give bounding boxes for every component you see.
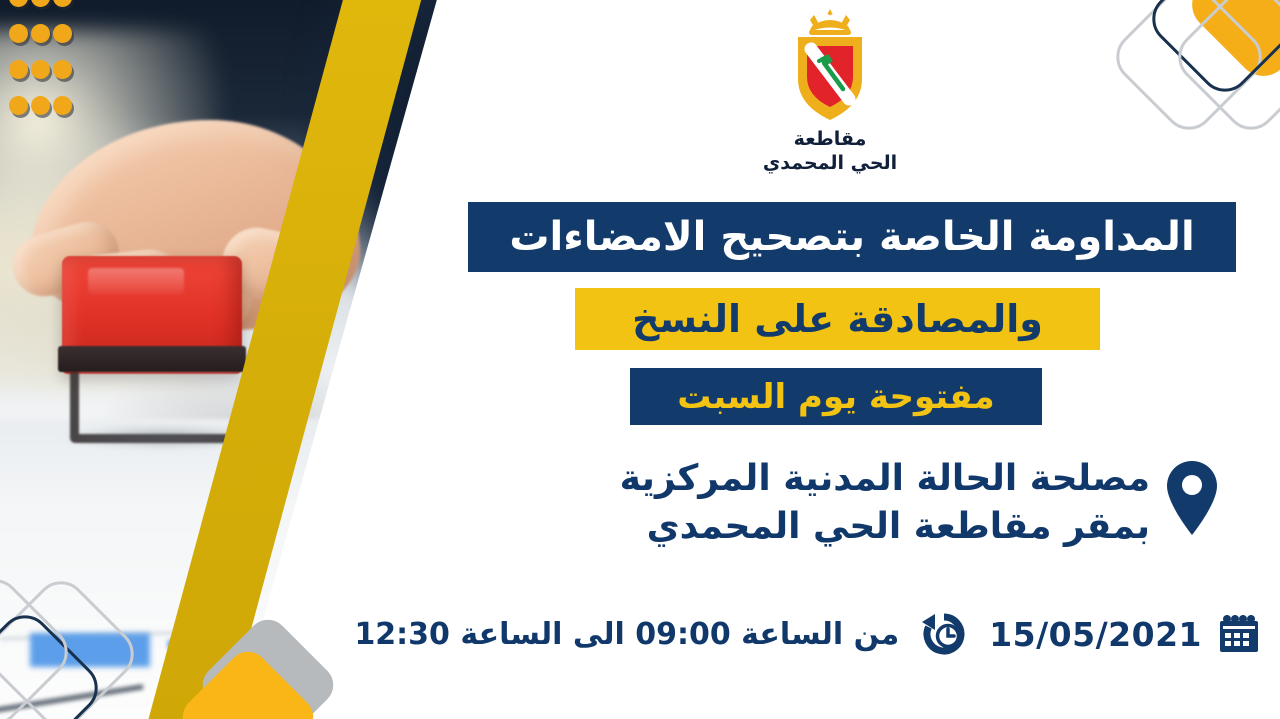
coat-of-arms-svg	[782, 6, 878, 124]
clock-back-arrow-icon	[921, 612, 967, 656]
rounded-squares-bottom-left	[0, 557, 148, 719]
address-lines: مصلحة الحالة المدنية المركزية بمقر مقاطع…	[620, 455, 1150, 550]
calendar-svg	[1218, 614, 1260, 654]
address-block: مصلحة الحالة المدنية المركزية بمقر مقاطع…	[460, 455, 1220, 550]
yellow-dot-grid	[6, 0, 72, 132]
emblem-name-line-2: الحي المحمدي	[763, 152, 897, 176]
date-text: 15/05/2021	[989, 615, 1202, 654]
announcement-poster: مقاطعة الحي المحمدي المداومة الخاصة بتصح…	[0, 0, 1280, 719]
emblem-name-line-1: مقاطعة	[763, 128, 897, 152]
hours-text: من الساعة 09:00 الى الساعة 12:30	[354, 617, 899, 652]
stamp-dark-band	[58, 346, 246, 372]
royal-crown-icon	[809, 9, 851, 35]
clock-back-arrow-svg	[921, 612, 967, 656]
location-pin-svg	[1164, 459, 1220, 537]
headline-banner-primary: المداومة الخاصة بتصحيح الامضاءات	[468, 202, 1236, 272]
calendar-icon	[1218, 614, 1260, 654]
headline-banner-tertiary: مفتوحة يوم السبت	[630, 368, 1042, 425]
address-line-2: بمقر مقاطعة الحي المحمدي	[620, 503, 1150, 551]
poster-content: مقاطعة الحي المحمدي المداومة الخاصة بتصح…	[430, 0, 1280, 719]
headline-banner-secondary: والمصادقة على النسخ	[575, 288, 1100, 350]
address-line-1: مصلحة الحالة المدنية المركزية	[620, 455, 1150, 503]
coat-of-arms-shield	[782, 6, 878, 124]
location-pin-icon	[1164, 459, 1220, 537]
footer-row: 15/05/2021 من الساعة 09:00 الى الساعة 12…	[440, 612, 1260, 656]
emblem-name: مقاطعة الحي المحمدي	[763, 128, 897, 176]
emblem-block: مقاطعة الحي المحمدي	[430, 6, 1230, 176]
stamp-label-window	[88, 268, 184, 294]
chevron-decoration	[186, 613, 366, 719]
